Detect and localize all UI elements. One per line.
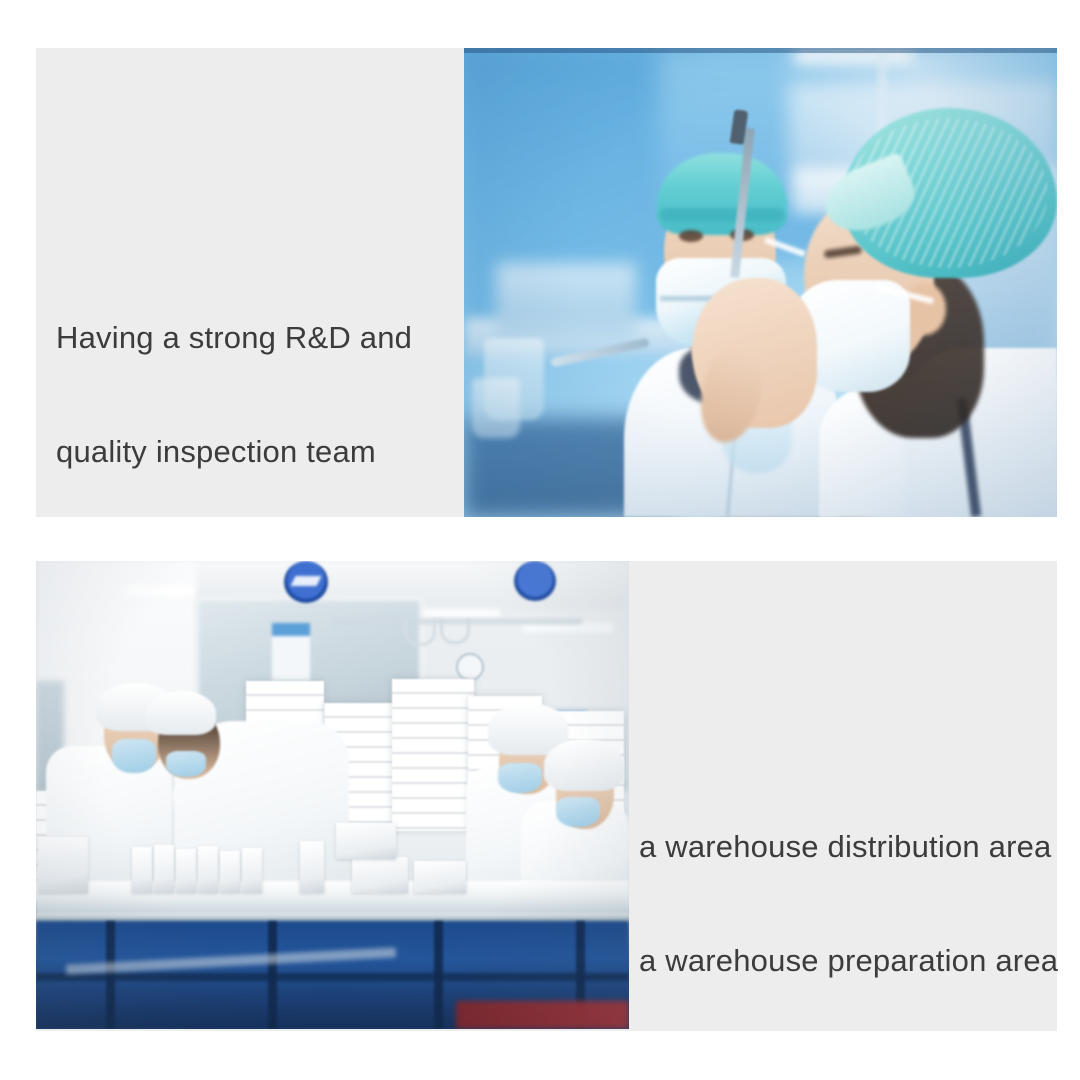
- lab-photo-top-strip: [464, 48, 1057, 53]
- warehouse-caption-line-2: a warehouse preparation area: [639, 942, 1058, 980]
- lab-photo-vignette: [464, 48, 1057, 517]
- lab-quality-inspection-photo: [464, 48, 1057, 517]
- warehouse-caption: a warehouse distribution area a warehous…: [639, 752, 1058, 1056]
- slide-canvas: Having a strong R&D and quality inspecti…: [0, 0, 1080, 1080]
- rnd-caption: Having a strong R&D and quality inspecti…: [56, 243, 412, 547]
- warehouse-caption-line-1: a warehouse distribution area: [639, 828, 1058, 866]
- rnd-caption-line-2: quality inspection team: [56, 433, 412, 471]
- warehouse-packing-photo: [36, 561, 629, 1029]
- rnd-caption-line-1: Having a strong R&D and: [56, 319, 412, 357]
- warehouse-photo-vignette: [36, 561, 629, 1029]
